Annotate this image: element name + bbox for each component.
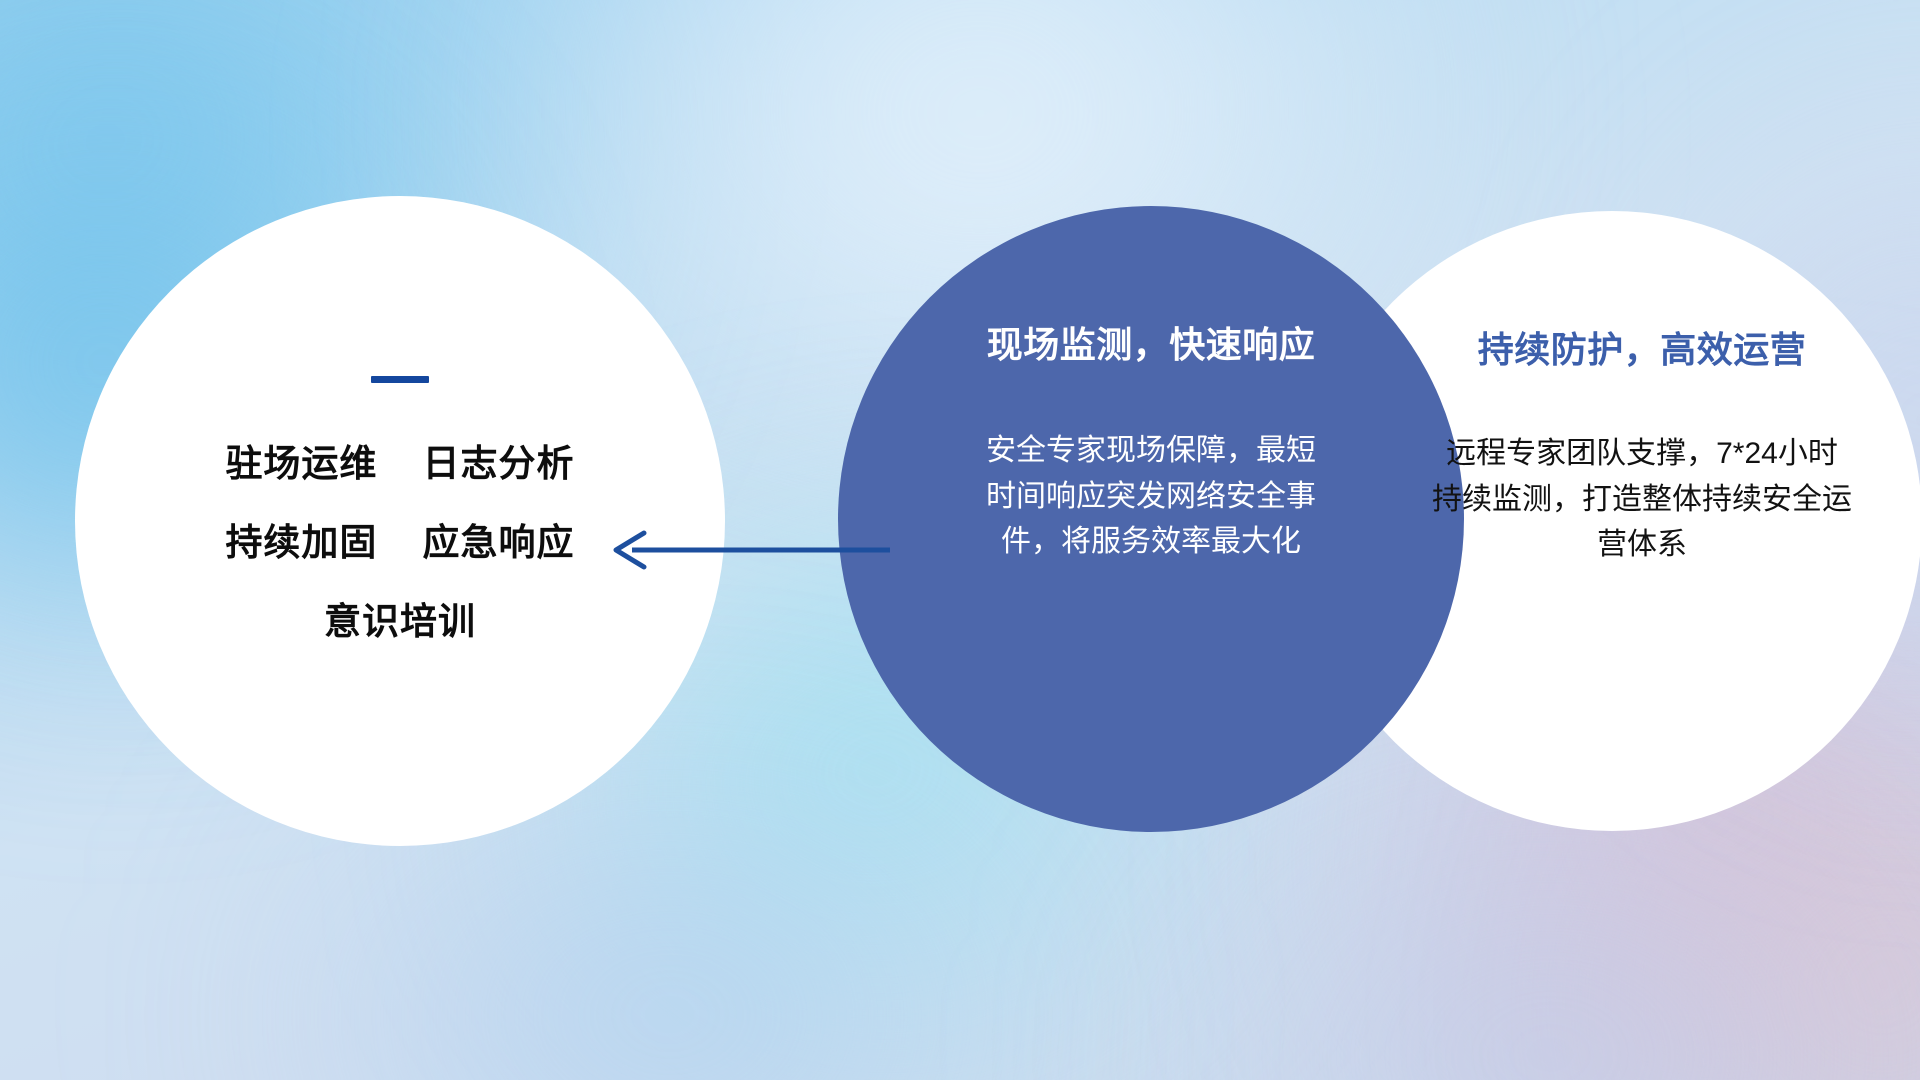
left-circle-content: 驻场运维 日志分析 持续加固 应急响应 意识培训 [75,196,725,846]
right-circle-content: 持续防护，高效运营 远程专家团队支撑，7*24小时持续监测，打造整体持续安全运营… [1302,211,1920,831]
left-circle-line-3: 意识培训 [324,603,476,640]
center-circle-title: 现场监测，快速响应 [987,316,1316,368]
right-circle-title: 持续防护，高效运营 [1478,321,1807,373]
left-circle-line-2: 持续加固 应急响应 [225,524,574,561]
left-circle-line-1: 驻场运维 日志分析 [225,445,574,482]
right-circle-body: 远程专家团队支撑，7*24小时持续监测，打造整体持续安全运营体系 [1432,431,1852,568]
center-circle-body: 安全专家现场保障，最短时间响应突发网络安全事件，将服务效率最大化 [986,428,1316,565]
left-circle-divider-rule [371,376,429,383]
slide-canvas: 驻场运维 日志分析 持续加固 应急响应 意识培训 现场监测，快速响应 安全专家现… [0,0,1920,1080]
